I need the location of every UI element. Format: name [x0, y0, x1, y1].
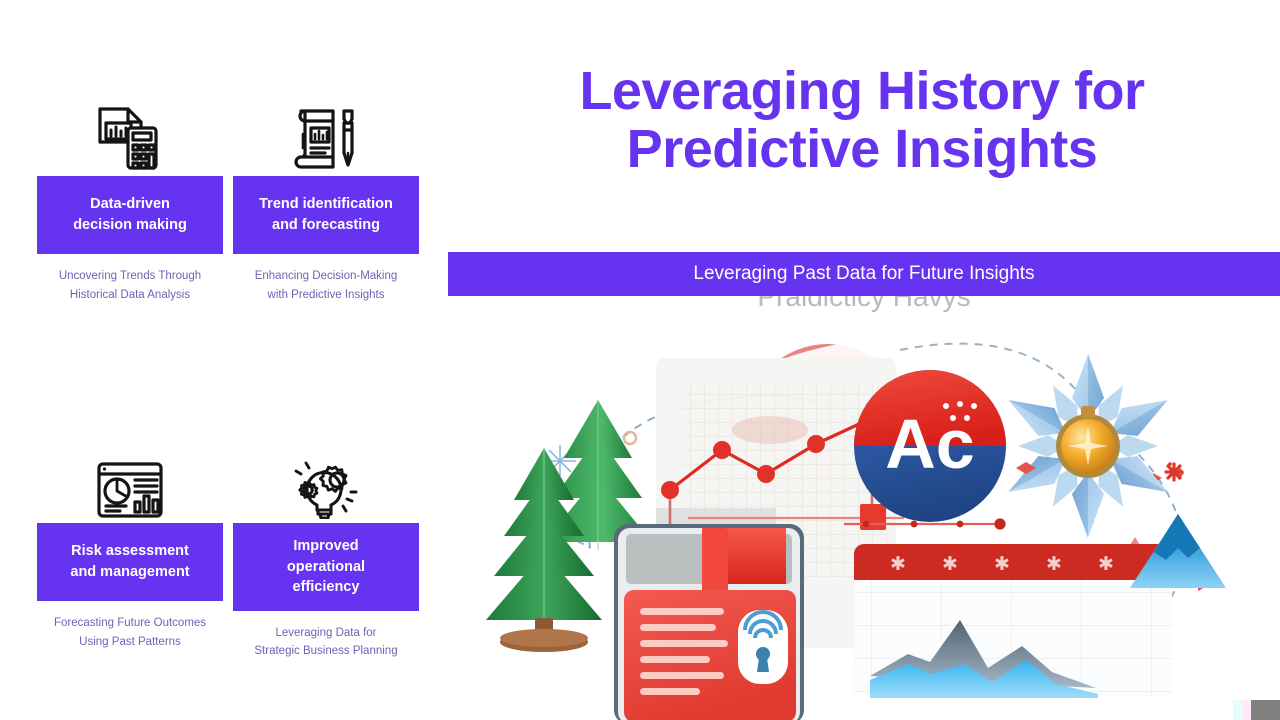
feature-caption: Enhancing Decision-Making with Predictiv… [233, 254, 419, 304]
notebook-bar-chart-pen-icon [233, 100, 419, 176]
feature-heading: Data-driven decision making [37, 176, 223, 254]
feature-heading-line2: operational [287, 559, 365, 575]
swatch-pink [1242, 700, 1251, 720]
svg-text:Ac: Ac [885, 405, 974, 483]
feature-heading: Trend identification and forecasting [233, 176, 419, 254]
dashboard-pie-bar-chart-icon [37, 447, 223, 523]
feature-card-improved-efficiency[interactable]: Improved operational efficiency Leveragi… [233, 447, 419, 661]
feature-caption: Forecasting Future Outcomes Using Past P… [37, 601, 223, 651]
feature-heading-line2: and management [70, 564, 189, 580]
svg-text:✱: ✱ [1046, 554, 1062, 575]
swatch-gray [1251, 700, 1280, 720]
hero-illustration: Ac [452, 296, 1280, 720]
feature-heading: Risk assessment and management [37, 523, 223, 601]
feature-caption-line1: Enhancing Decision-Making [255, 270, 398, 282]
feature-caption-line1: Uncovering Trends Through [59, 270, 201, 282]
feature-heading: Improved operational efficiency [233, 523, 419, 611]
feature-heading-line2: and forecasting [272, 217, 380, 233]
feature-card-data-driven[interactable]: Data-driven decision making Uncovering T… [37, 100, 223, 304]
subtitle-banner: Leveraging Past Data for Future Insights [448, 252, 1280, 296]
slide-canvas: Leveraging History for Predictive Insigh… [0, 0, 1280, 720]
page-title: Leveraging History for Predictive Insigh… [452, 62, 1272, 179]
feature-caption-line1: Forecasting Future Outcomes [54, 617, 206, 629]
swatch-cyan [1233, 700, 1242, 720]
feature-caption-line1: Leveraging Data for [275, 627, 376, 639]
feature-caption-line2: Strategic Business Planning [254, 645, 397, 657]
area-chart-card: ✱ ✱ ✱ ✱ ✱ [854, 544, 1172, 698]
svg-text:✱: ✱ [890, 554, 906, 575]
feature-caption-line2: Using Past Patterns [79, 636, 181, 648]
ac-badge: Ac [854, 370, 1006, 522]
feature-heading-line1: Trend identification [259, 196, 393, 212]
feature-caption-line2: Historical Data Analysis [70, 289, 190, 301]
feature-card-risk-assessment[interactable]: Risk assessment and management Forecasti… [37, 447, 223, 651]
feature-caption: Uncovering Trends Through Historical Dat… [37, 254, 223, 304]
feature-heading-line3: efficiency [293, 579, 360, 595]
color-swatch-strip [1233, 700, 1280, 720]
subtitle-banner-label: Leveraging Past Data for Future Insights [693, 263, 1034, 285]
feature-heading-line1: Improved [293, 538, 358, 554]
document-bar-chart-calculator-icon [37, 100, 223, 176]
padlock-icon [738, 610, 788, 684]
svg-text:✱: ✱ [1098, 554, 1114, 575]
svg-text:✱: ✱ [942, 554, 958, 575]
feature-caption-line2: with Predictive Insights [268, 289, 385, 301]
svg-text:✱: ✱ [994, 554, 1010, 575]
feature-heading-line1: Risk assessment [71, 543, 189, 559]
feature-heading-line2: decision making [73, 217, 187, 233]
feature-card-trend-identification[interactable]: Trend identification and forecasting Enh… [233, 100, 419, 304]
feature-caption: Leveraging Data for Strategic Business P… [233, 611, 419, 661]
lightbulb-gears-icon [233, 447, 419, 523]
feature-heading-line1: Data-driven [90, 196, 170, 212]
secure-document-card [614, 524, 804, 720]
